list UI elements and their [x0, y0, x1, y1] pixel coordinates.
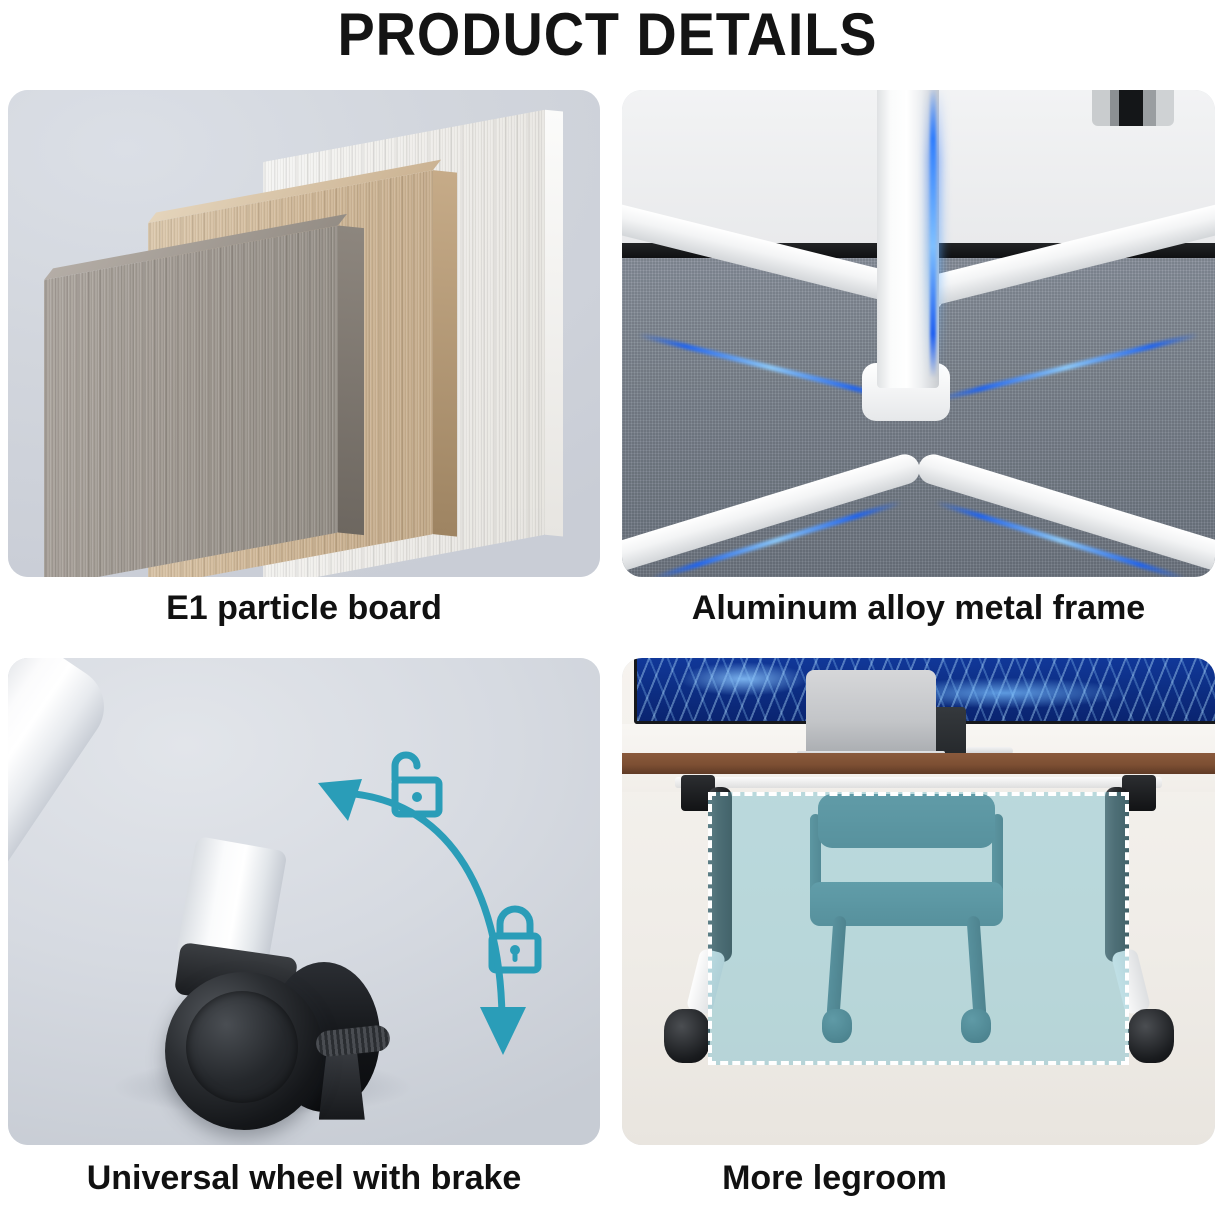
panel-particle-board[interactable] — [8, 90, 600, 577]
caption-more-legroom: More legroom — [622, 1158, 1215, 1198]
roller-knob — [1092, 90, 1174, 126]
product-details-infographic: PRODUCT DETAILS — [0, 0, 1215, 1205]
desk-under-rail — [675, 777, 1161, 788]
board-gray — [44, 226, 338, 577]
desk-caster-right — [1128, 1009, 1174, 1063]
post-glow-line — [930, 90, 936, 378]
panel-metal-frame[interactable] — [622, 90, 1215, 577]
panel-universal-wheel[interactable] — [8, 658, 600, 1145]
page-title: PRODUCT DETAILS — [43, 2, 1173, 68]
curved-double-arrow-icon — [304, 755, 564, 1075]
universal-wheel-image — [8, 658, 600, 1145]
particle-board-image — [8, 90, 600, 577]
desk-caster-left — [664, 1009, 710, 1063]
more-legroom-image — [622, 658, 1215, 1145]
panel-more-legroom[interactable] — [622, 658, 1215, 1145]
legroom-highlight-area — [708, 792, 1129, 1065]
caption-universal-wheel: Universal wheel with brake — [8, 1158, 600, 1198]
caster-wheel-hubcap — [186, 991, 298, 1103]
laptop — [806, 670, 936, 755]
metal-frame-image — [622, 90, 1215, 577]
caption-particle-board: E1 particle board — [8, 588, 600, 628]
caption-metal-frame: Aluminum alloy metal frame — [622, 588, 1215, 628]
desk-top — [622, 753, 1215, 774]
